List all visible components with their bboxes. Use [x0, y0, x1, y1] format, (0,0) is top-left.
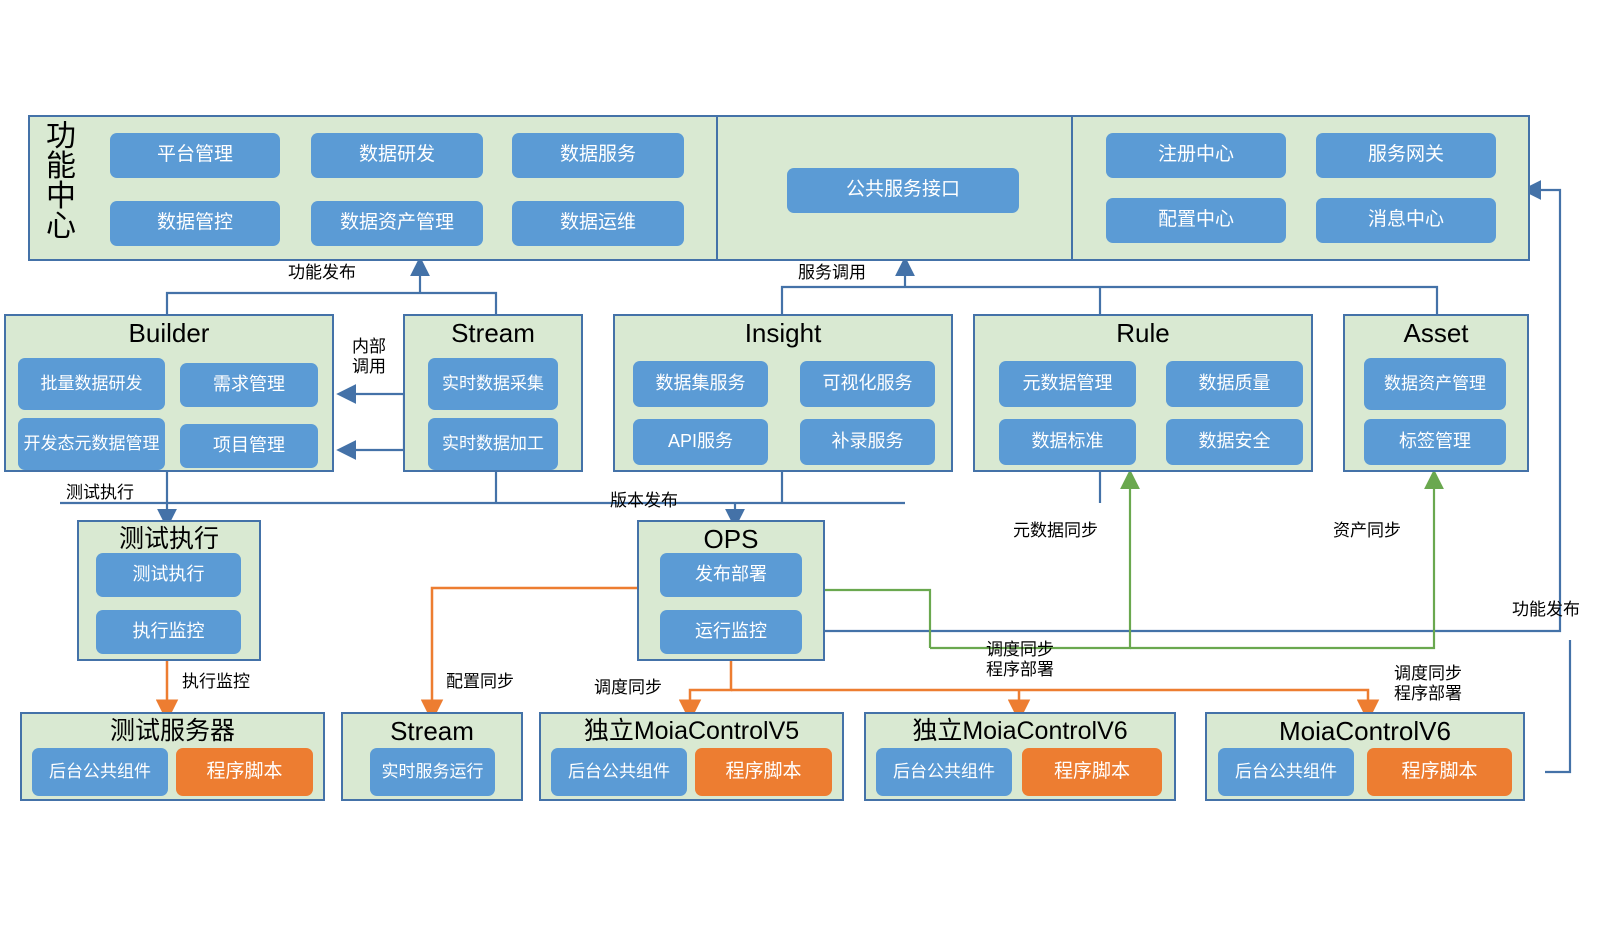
edge-label-version-publish: 版本发布	[610, 491, 678, 511]
chip-release-deploy[interactable]: 发布部署	[660, 553, 802, 597]
chip-data-operations[interactable]: 数据运维	[512, 201, 684, 246]
chip-realtime-data-processing[interactable]: 实时数据加工	[428, 418, 558, 470]
chip-execution-monitor[interactable]: 执行监控	[96, 610, 241, 654]
edge-label-schedule-sync: 调度同步	[594, 678, 662, 698]
chip-public-service-interface[interactable]: 公共服务接口	[787, 168, 1019, 213]
chip-project-management[interactable]: 项目管理	[180, 424, 318, 468]
chip-realtime-data-collection[interactable]: 实时数据采集	[428, 358, 558, 410]
chip-realtime-service-runtime[interactable]: 实时服务运行	[370, 748, 495, 796]
panel-title-stream-server: Stream	[343, 718, 521, 745]
chip-program-script[interactable]: 程序脚本	[695, 748, 832, 796]
chip-tag-management[interactable]: 标签管理	[1364, 419, 1506, 465]
side-label-char: 功	[40, 122, 82, 152]
chip-data-standard[interactable]: 数据标准	[999, 419, 1136, 465]
chip-backend-common-component[interactable]: 后台公共组件	[32, 748, 168, 796]
chip-program-script[interactable]: 程序脚本	[1367, 748, 1512, 796]
panel-title-asset: Asset	[1345, 320, 1527, 347]
chip-platform-management[interactable]: 平台管理	[110, 133, 280, 178]
chip-supplement-service[interactable]: 补录服务	[800, 419, 935, 465]
chip-data-asset-management[interactable]: 数据资产管理	[311, 201, 483, 246]
edge-label-metadata-sync: 元数据同步	[1013, 521, 1098, 541]
chip-backend-common-component[interactable]: 后台公共组件	[551, 748, 687, 796]
side-label-char: 能	[40, 152, 82, 182]
edge-label-feature-publish-right: 功能发布	[1440, 600, 1580, 620]
panel-title-insight: Insight	[615, 320, 951, 347]
chip-backend-common-component[interactable]: 后台公共组件	[1218, 748, 1354, 796]
panel-title-standalone-v6: 独立MoiaControlV6	[866, 718, 1174, 744]
chip-metadata-management[interactable]: 元数据管理	[999, 361, 1136, 407]
panel-title-moiacontrolv6: MoiaControlV6	[1207, 718, 1523, 745]
edge-label-config-sync: 配置同步	[446, 672, 514, 692]
chip-message-center[interactable]: 消息中心	[1316, 198, 1496, 243]
chip-data-development[interactable]: 数据研发	[311, 133, 483, 178]
chip-dataset-service[interactable]: 数据集服务	[633, 361, 768, 407]
chip-test-execution[interactable]: 测试执行	[96, 553, 241, 597]
edge-label-test-execute: 测试执行	[66, 483, 134, 503]
panel-title-stream: Stream	[405, 320, 581, 347]
chip-program-script[interactable]: 程序脚本	[1022, 748, 1162, 796]
chip-api-service[interactable]: API服务	[633, 419, 768, 465]
side-label-char: 中	[40, 182, 82, 212]
chip-requirement-management[interactable]: 需求管理	[180, 363, 318, 407]
chip-backend-common-component[interactable]: 后台公共组件	[876, 748, 1012, 796]
chip-data-security[interactable]: 数据安全	[1166, 419, 1303, 465]
edge-label-exec-monitor: 执行监控	[182, 672, 250, 692]
function-center-label: 功 能 中 心	[40, 122, 82, 242]
edge-label-feature-publish: 功能发布	[288, 263, 356, 283]
chip-data-governance[interactable]: 数据管控	[110, 201, 280, 246]
chip-dev-metadata-management[interactable]: 开发态元数据管理	[18, 418, 165, 470]
edge-label-internal-call: 内部 调用	[340, 337, 398, 376]
chip-asset-data-management[interactable]: 数据资产管理	[1364, 358, 1506, 410]
edge-label-asset-sync: 资产同步	[1333, 521, 1401, 541]
chip-visualization-service[interactable]: 可视化服务	[800, 361, 935, 407]
chip-data-service[interactable]: 数据服务	[512, 133, 684, 178]
architecture-diagram: 功 能 中 心 平台管理 数据研发 数据服务 数据管控 数据资产管理 数据运维 …	[0, 0, 1611, 940]
chip-runtime-monitor[interactable]: 运行监控	[660, 610, 802, 654]
chip-batch-data-development[interactable]: 批量数据研发	[18, 358, 165, 410]
panel-title-standalone-v5: 独立MoiaControlV5	[541, 718, 842, 744]
chip-program-script[interactable]: 程序脚本	[176, 748, 313, 796]
side-label-char: 心	[40, 212, 82, 242]
chip-data-quality[interactable]: 数据质量	[1166, 361, 1303, 407]
edge-label-schedule-sync-deploy: 调度同步 程序部署	[965, 640, 1075, 679]
band-divider-1	[716, 115, 718, 261]
chip-service-gateway[interactable]: 服务网关	[1316, 133, 1496, 178]
band-divider-2	[1071, 115, 1073, 261]
panel-title-ops: OPS	[639, 526, 823, 553]
panel-title-test-server: 测试服务器	[22, 718, 323, 744]
panel-title-test-execution: 测试执行	[79, 526, 259, 552]
chip-registry-center[interactable]: 注册中心	[1106, 133, 1286, 178]
panel-title-builder: Builder	[6, 320, 332, 347]
panel-title-rule: Rule	[975, 320, 1311, 347]
edge-label-schedule-sync-deploy-2: 调度同步 程序部署	[1373, 664, 1483, 703]
edge-label-service-call: 服务调用	[798, 263, 866, 283]
chip-config-center[interactable]: 配置中心	[1106, 198, 1286, 243]
